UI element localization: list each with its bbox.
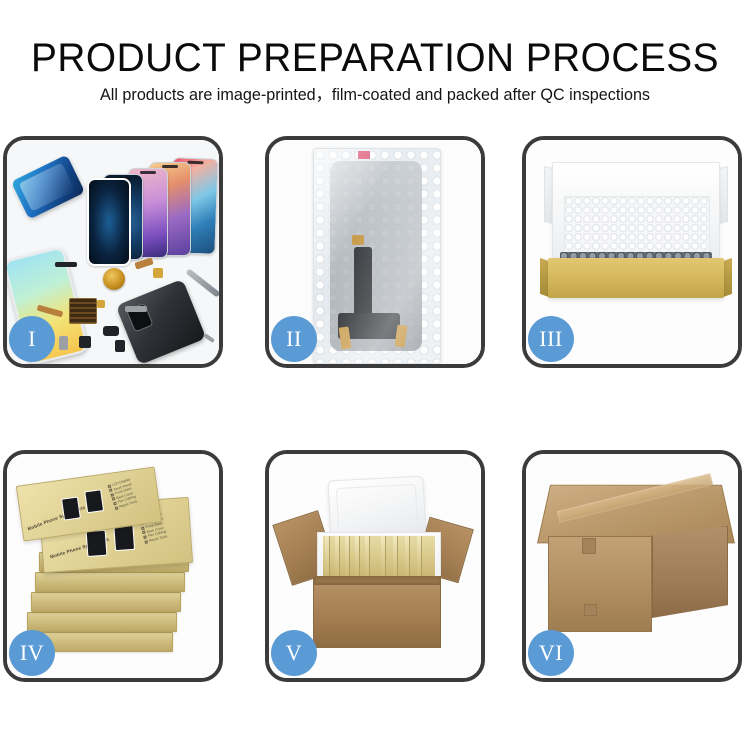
notch-icon (140, 171, 156, 174)
step-badge-6: VI (528, 630, 574, 676)
product-preparation-infographic: PRODUCT PREPARATION PROCESS All products… (0, 0, 750, 750)
box-window-screen (61, 496, 81, 520)
step-panel-5: V (265, 450, 485, 682)
packed-box-slat (345, 536, 350, 576)
carton-front (548, 536, 652, 632)
packed-box-slat (325, 536, 330, 576)
packed-box-slat (355, 536, 360, 576)
part-icon (55, 262, 77, 267)
phone-back-housing-icon (116, 279, 207, 364)
step-panel-2: II (265, 136, 485, 368)
packed-box-slat (417, 536, 422, 576)
step-badge-3: III (528, 316, 574, 362)
stacked-box (27, 612, 177, 632)
carton-body (313, 576, 441, 648)
part-icon (125, 306, 147, 312)
page-title: PRODUCT PREPARATION PROCESS (11, 36, 739, 80)
bubble-wrap-bag (313, 148, 441, 364)
packed-boxes (323, 536, 435, 576)
stacked-box (31, 592, 181, 612)
part-icon (79, 336, 91, 348)
box-window-screen (84, 489, 104, 513)
packed-box-slat (365, 536, 370, 576)
step-panel-1: I (3, 136, 223, 368)
step-panel-3: III (522, 136, 742, 368)
screen-protector-film (11, 155, 85, 220)
carton-side (652, 526, 728, 618)
screwdriver-icon (203, 333, 215, 343)
step-badge-1: I (9, 316, 55, 362)
box-window-screen (86, 530, 108, 557)
notch-icon (187, 161, 203, 165)
plastic-sheen (314, 149, 440, 363)
connector-icon (153, 268, 163, 278)
step-badge-2: II (271, 316, 317, 362)
step-badge-5: V (271, 630, 317, 676)
chip-grid-icon (69, 298, 97, 324)
part-icon (115, 340, 125, 352)
carton-handle-cut (584, 604, 597, 616)
page-subtitle: All products are image-printed，film-coat… (8, 85, 743, 105)
steps-grid: I II (3, 136, 747, 682)
carton-handle-cut (582, 538, 596, 554)
front-glass-icon (87, 178, 131, 266)
speaker-coil-icon (103, 268, 125, 290)
screw-icon (97, 300, 105, 308)
step-panel-6: VI (522, 450, 742, 682)
step-panel-4: Mobile Phone Spare Parts LCD Display Tou… (3, 450, 223, 682)
stacked-box (35, 572, 185, 592)
packed-box-slat (381, 536, 386, 576)
step-badge-4: IV (9, 630, 55, 676)
packed-box-slat (393, 536, 398, 576)
part-icon (103, 326, 119, 336)
box-tray (548, 258, 724, 298)
phone-lineup (95, 156, 219, 276)
packed-box-slat (405, 536, 410, 576)
box-checklist: LCD Display Touch Panel Front Glass Back… (107, 477, 138, 510)
battery-icon (59, 336, 68, 350)
header: PRODUCT PREPARATION PROCESS All products… (0, 0, 750, 128)
packed-box-slat (335, 536, 340, 576)
notch-icon (162, 165, 178, 168)
